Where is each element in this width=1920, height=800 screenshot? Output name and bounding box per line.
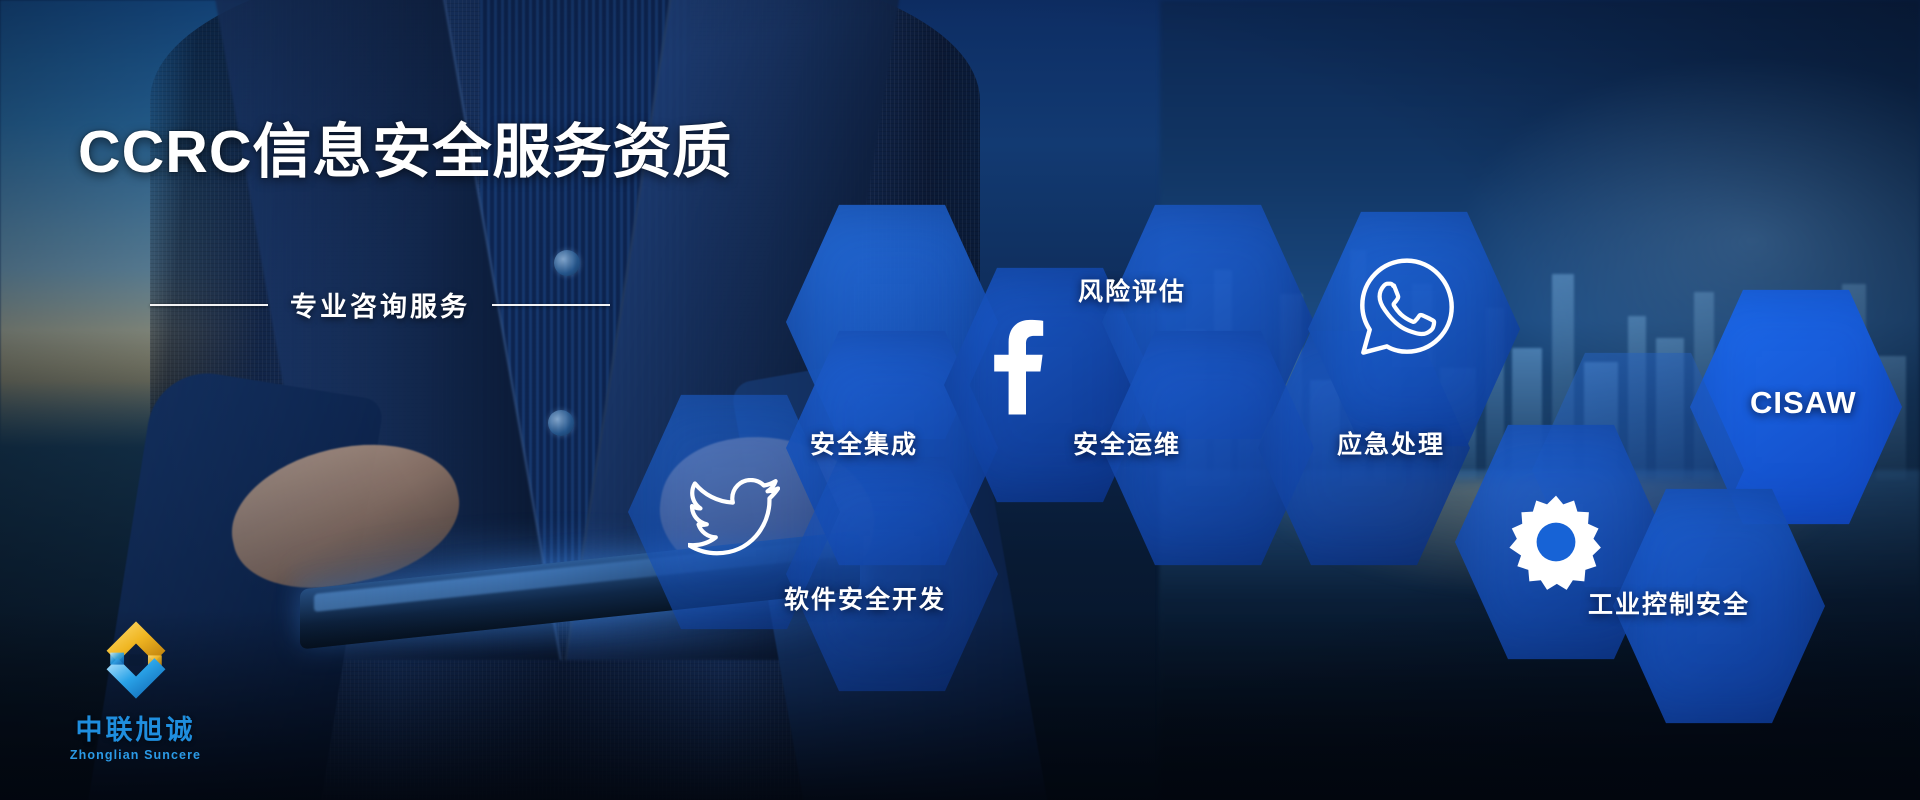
page-title: CCRC信息安全服务资质 [78,123,732,182]
page-subtitle: 专业咨询服务 [290,285,470,324]
logo-mark-icon [90,614,182,706]
hex-label-security-operations: 安全运维 [1073,425,1181,461]
facebook-icon[interactable] [975,310,1055,415]
subtitle-block: 专业咨询服务 [150,285,610,324]
banner-stage: 安全集成 风险评估 安全运维 软件安全开发 应急处理 [0,0,1920,800]
whatsapp-phone-icon[interactable] [1352,252,1462,362]
subtitle-rule-right [492,304,610,306]
hex-label-risk-assessment: 风险评估 [1078,272,1186,308]
gear-icon[interactable] [1502,488,1610,596]
twitter-icon[interactable] [688,478,780,556]
logo-text-cn: 中联旭诚 [48,708,223,747]
headline-block: CCRC信息安全服务资质 [78,123,732,182]
subtitle-rule-left [150,304,268,306]
hex-label-security-integration: 安全集成 [810,425,918,461]
hex-label-emergency-response: 应急处理 [1337,425,1445,461]
hex-label-software-security-dev: 软件安全开发 [784,580,946,616]
logo-text-en: Zhonglian Suncere [48,748,223,762]
hex-label-industrial-control: 工业控制安全 [1588,585,1750,621]
hex-label-cisaw: CISAW [1750,385,1857,421]
company-logo[interactable]: 中联旭诚 Zhonglian Suncere [48,614,223,762]
